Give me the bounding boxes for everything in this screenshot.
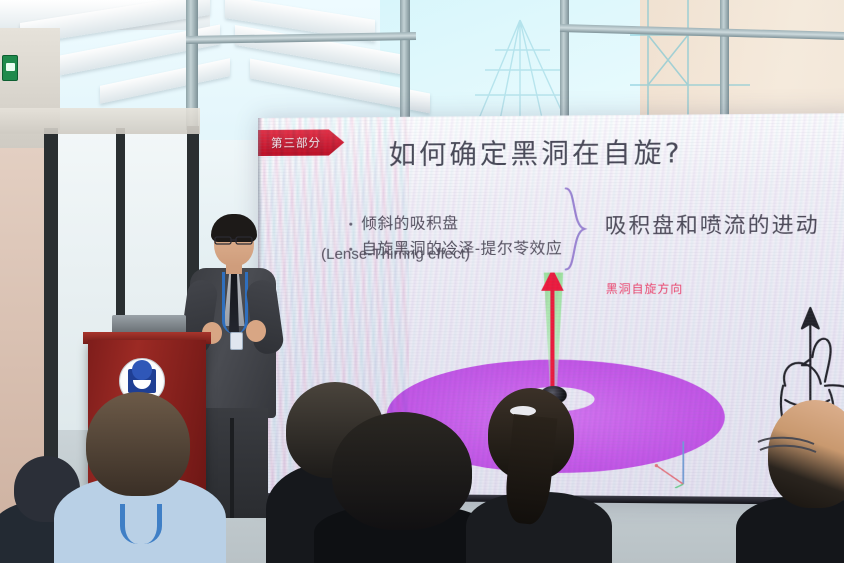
- audience-member-6: [752, 400, 844, 563]
- window-mullion-4: [720, 0, 729, 120]
- exit-sign: [2, 55, 18, 81]
- audience-glasses: [756, 434, 828, 458]
- audience-head: [86, 392, 190, 496]
- wall-trim: [0, 108, 200, 134]
- speaker-right-hand: [246, 320, 266, 342]
- audience-lanyard: [120, 504, 162, 544]
- audience-head: [332, 412, 472, 530]
- speaker-leg-split: [230, 418, 234, 518]
- audience-member-4: [322, 412, 482, 563]
- audience-member-5: [470, 388, 600, 563]
- lecture-photo: 第三部分 如何确定黑洞在自旋? 倾斜的吸积盘 自旋黑洞的冷泽-提尔苓效应 (Le…: [0, 0, 844, 563]
- emblem-mark: [128, 369, 156, 393]
- audience-member-2: [58, 392, 218, 563]
- speaker-lanyard: [222, 272, 248, 334]
- speaker-badge: [230, 332, 243, 350]
- speaker-glasses: [214, 236, 254, 245]
- window-mullion-3: [560, 0, 569, 130]
